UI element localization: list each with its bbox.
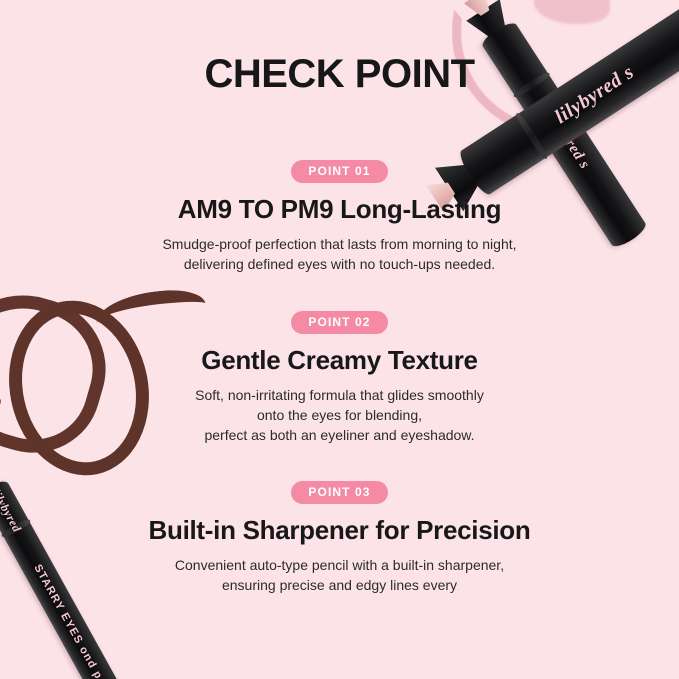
point-badge-3: POINT 03: [291, 481, 387, 504]
point-body-3: Convenient auto-type pencil with a built…: [0, 555, 679, 596]
point-body-1: Smudge-proof perfection that lasts from …: [0, 234, 679, 275]
point-heading-3: Built-in Sharpener for Precision: [0, 516, 679, 546]
page-title: CHECK POINT: [0, 52, 679, 97]
point-block-1: POINT 01 AM9 TO PM9 Long-Lasting Smudge-…: [0, 160, 679, 274]
content-layer: CHECK POINT POINT 01 AM9 TO PM9 Long-Las…: [0, 0, 679, 679]
point-body-line: onto the eyes for blending,: [0, 405, 679, 425]
point-body-line: ensuring precise and edgy lines every: [0, 575, 679, 595]
point-block-3: POINT 03 Built-in Sharpener for Precisio…: [0, 481, 679, 595]
point-body-2: Soft, non-irritating formula that glides…: [0, 385, 679, 446]
point-heading-1: AM9 TO PM9 Long-Lasting: [0, 195, 679, 225]
point-body-line: perfect as both an eyeliner and eyeshado…: [0, 425, 679, 445]
point-badge-1: POINT 01: [291, 160, 387, 183]
point-block-2: POINT 02 Gentle Creamy Texture Soft, non…: [0, 311, 679, 446]
point-body-line: delivering defined eyes with no touch-up…: [0, 254, 679, 274]
point-body-line: Smudge-proof perfection that lasts from …: [0, 234, 679, 254]
point-heading-2: Gentle Creamy Texture: [0, 346, 679, 376]
point-body-line: Soft, non-irritating formula that glides…: [0, 385, 679, 405]
point-body-line: Convenient auto-type pencil with a built…: [0, 555, 679, 575]
point-badge-2: POINT 02: [291, 311, 387, 334]
promo-banner: lilybyred s lilybyred s lilybyred STARRY…: [0, 0, 679, 679]
